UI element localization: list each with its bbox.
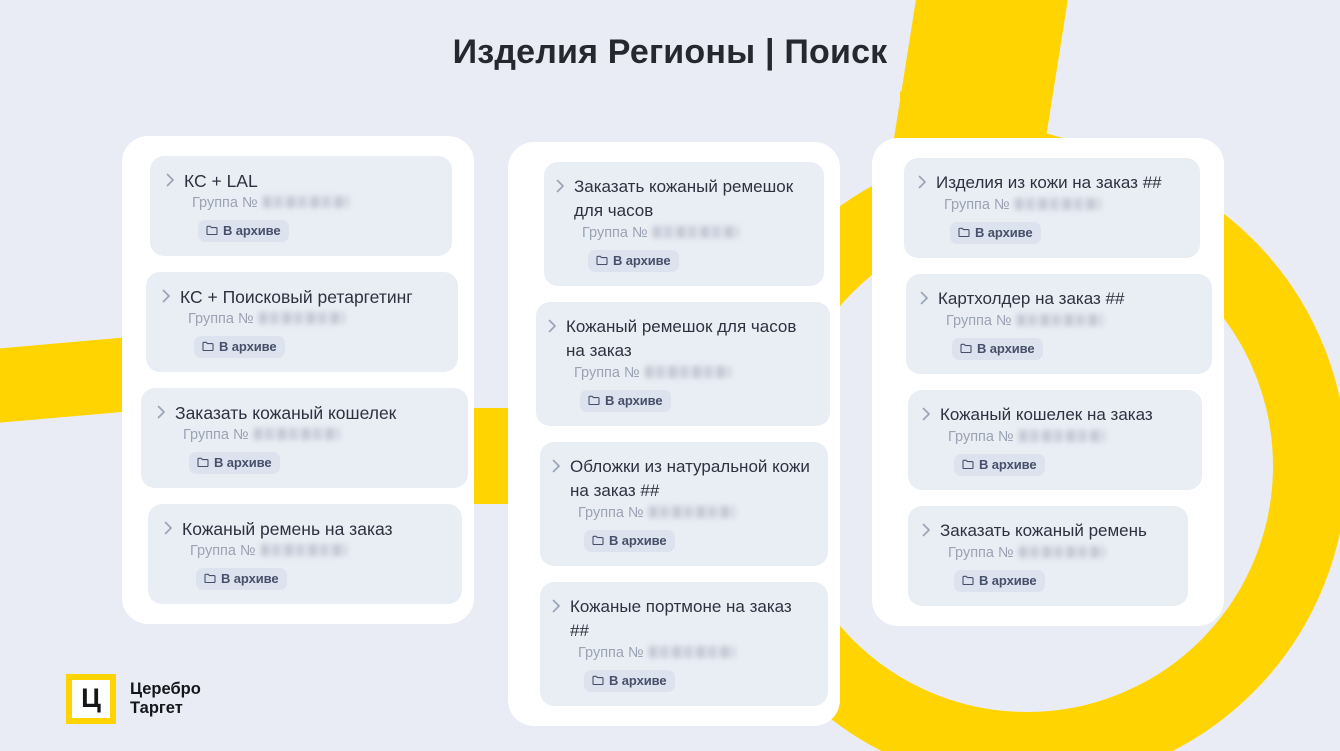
folder-icon [962,459,974,470]
status-badge: В архиве [196,568,287,590]
group-number-redacted [261,544,347,556]
campaign-columns: КС + LALГруппа №В архивеКС + Поисковый р… [0,0,1340,751]
campaign-card-header[interactable]: Обложки из натуральной кожи на заказ ## [552,455,812,503]
campaign-card[interactable]: Изделия из кожи на заказ ##Группа №В арх… [904,158,1200,258]
campaign-card[interactable]: КС + Поисковый ретаргетингГруппа №В архи… [146,272,458,372]
campaign-group-line: Группа № [556,224,808,243]
campaign-group-line: Группа № [918,196,1184,215]
campaign-group-line: Группа № [922,428,1186,447]
campaign-group-line: Группа № [920,312,1196,331]
campaign-card-title: Заказать кожаный ремешок для часов [574,175,808,223]
group-number-redacted [1019,546,1105,558]
campaign-card-title: Кожаный кошелек на заказ [940,403,1153,427]
folder-icon [958,227,970,238]
group-label: Группа № [188,310,254,329]
campaign-card-header[interactable]: КС + LAL [166,169,436,193]
logo-line-2: Таргет [130,699,201,718]
status-badge-label: В архиве [609,673,666,688]
chevron-right-icon[interactable] [920,291,929,305]
status-badge-label: В архиве [223,223,280,238]
campaign-card-header[interactable]: Изделия из кожи на заказ ## [918,171,1184,195]
chevron-right-icon[interactable] [918,175,927,189]
status-badge-label: В архиве [979,457,1036,472]
group-label: Группа № [190,542,256,561]
status-badge-label: В архиве [979,573,1036,588]
status-badge-label: В архиве [214,455,271,470]
campaign-card[interactable]: Заказать кожаный ременьГруппа №В архиве [908,506,1188,606]
status-badge: В архиве [588,250,679,272]
status-badge: В архиве [198,220,289,242]
status-badge: В архиве [189,452,280,474]
chevron-right-icon[interactable] [166,173,175,187]
campaign-card-title: Заказать кожаный кошелек [175,401,396,425]
status-badge-label: В архиве [609,533,666,548]
group-number-redacted [259,312,345,324]
campaign-card-header[interactable]: Заказать кожаный ремешок для часов [556,175,808,223]
status-badge: В архиве [580,390,671,412]
folder-icon [962,575,974,586]
status-badge-label: В архиве [219,339,276,354]
campaign-card-title: Кожаные портмоне на заказ ## [570,595,812,643]
folder-icon [960,343,972,354]
folder-icon [592,675,604,686]
group-number-redacted [649,646,735,658]
campaign-column-2: Заказать кожаный ремешок для часовГруппа… [508,142,840,726]
group-label: Группа № [578,644,644,663]
group-number-redacted [1019,430,1105,442]
campaign-card-header[interactable]: Картхолдер на заказ ## [920,287,1196,311]
campaign-group-line: Группа № [552,644,812,663]
logo-mark-icon: Ц [66,674,116,724]
campaign-card-header[interactable]: Кожаный кошелек на заказ [922,403,1186,427]
campaign-group-line: Группа № [552,504,812,523]
slide-canvas: Изделия Регионы | Поиск КС + LALГруппа №… [0,0,1340,751]
chevron-right-icon[interactable] [157,405,166,419]
campaign-card[interactable]: Кожаные портмоне на заказ ##Группа №В ар… [540,582,828,706]
group-number-redacted [649,506,735,518]
group-label: Группа № [948,544,1014,563]
campaign-card-header[interactable]: Кожаный ремешок для часов на заказ [548,315,814,363]
group-label: Группа № [183,426,249,445]
campaign-card[interactable]: КС + LALГруппа №В архиве [150,156,452,256]
group-label: Группа № [946,312,1012,331]
campaign-card-title: КС + LAL [184,169,258,193]
campaign-group-line: Группа № [164,542,446,561]
status-badge: В архиве [194,336,285,358]
logo-line-1: Церебро [130,680,201,699]
campaign-card-header[interactable]: КС + Поисковый ретаргетинг [162,285,442,309]
group-number-redacted [653,226,739,238]
campaign-group-line: Группа № [162,310,442,329]
campaign-card-header[interactable]: Кожаный ремень на заказ [164,517,446,541]
status-badge-label: В архиве [975,225,1032,240]
folder-icon [202,341,214,352]
chevron-right-icon[interactable] [552,459,561,473]
folder-icon [206,225,218,236]
status-badge: В архиве [584,530,675,552]
group-label: Группа № [582,224,648,243]
campaign-card[interactable]: Обложки из натуральной кожи на заказ ##Г… [540,442,828,566]
campaign-card-header[interactable]: Заказать кожаный ремень [922,519,1172,543]
campaign-card[interactable]: Заказать кожаный кошелекГруппа №В архиве [141,388,468,488]
campaign-card[interactable]: Кожаный ремешок для часов на заказГруппа… [536,302,830,426]
campaign-card[interactable]: Заказать кожаный ремешок для часовГруппа… [544,162,824,286]
campaign-column-1: КС + LALГруппа №В архивеКС + Поисковый р… [122,136,474,624]
chevron-right-icon[interactable] [556,179,565,193]
campaign-group-line: Группа № [548,364,814,383]
group-label: Группа № [944,196,1010,215]
status-badge: В архиве [954,570,1045,592]
group-label: Группа № [192,194,258,213]
brand-logo: Ц Церебро Таргет [66,674,201,724]
campaign-group-line: Группа № [157,426,452,445]
folder-icon [588,395,600,406]
status-badge-label: В архиве [613,253,670,268]
campaign-group-line: Группа № [922,544,1172,563]
campaign-card[interactable]: Кожаный кошелек на заказГруппа №В архиве [908,390,1202,490]
folder-icon [596,255,608,266]
chevron-right-icon[interactable] [552,599,561,613]
campaign-card-title: Кожаный ремень на заказ [182,517,393,541]
group-number-redacted [254,428,340,440]
chevron-right-icon[interactable] [922,523,931,537]
folder-icon [197,457,209,468]
chevron-right-icon[interactable] [164,521,173,535]
group-number-redacted [263,196,349,208]
campaign-card[interactable]: Картхолдер на заказ ##Группа №В архиве [906,274,1212,374]
chevron-right-icon[interactable] [162,289,171,303]
chevron-right-icon[interactable] [548,319,557,333]
status-badge: В архиве [950,222,1041,244]
campaign-group-line: Группа № [166,194,436,213]
status-badge: В архиве [954,454,1045,476]
campaign-card-header[interactable]: Заказать кожаный кошелек [157,401,452,425]
logo-letter: Ц [81,685,101,712]
logo-wordmark: Церебро Таргет [130,680,201,718]
chevron-right-icon[interactable] [922,407,931,421]
campaign-card-title: Заказать кожаный ремень [940,519,1147,543]
folder-icon [204,573,216,584]
campaign-card[interactable]: Кожаный ремень на заказГруппа №В архиве [148,504,462,604]
group-label: Группа № [574,364,640,383]
campaign-card-header[interactable]: Кожаные портмоне на заказ ## [552,595,812,643]
campaign-card-title: Кожаный ремешок для часов на заказ [566,315,814,363]
group-number-redacted [1015,198,1101,210]
campaign-card-title: Изделия из кожи на заказ ## [936,171,1162,195]
group-number-redacted [1017,314,1103,326]
group-number-redacted [645,366,731,378]
page-title: Изделия Регионы | Поиск [0,33,1340,72]
campaign-card-title: КС + Поисковый ретаргетинг [180,285,413,309]
status-badge-label: В архиве [977,341,1034,356]
group-label: Группа № [578,504,644,523]
status-badge: В архиве [952,338,1043,360]
status-badge-label: В архиве [605,393,662,408]
status-badge: В архиве [584,670,675,692]
campaign-column-3: Изделия из кожи на заказ ##Группа №В арх… [872,138,1224,626]
status-badge-label: В архиве [221,571,278,586]
campaign-card-title: Обложки из натуральной кожи на заказ ## [570,455,812,503]
campaign-card-title: Картхолдер на заказ ## [938,287,1124,311]
group-label: Группа № [948,428,1014,447]
folder-icon [592,535,604,546]
